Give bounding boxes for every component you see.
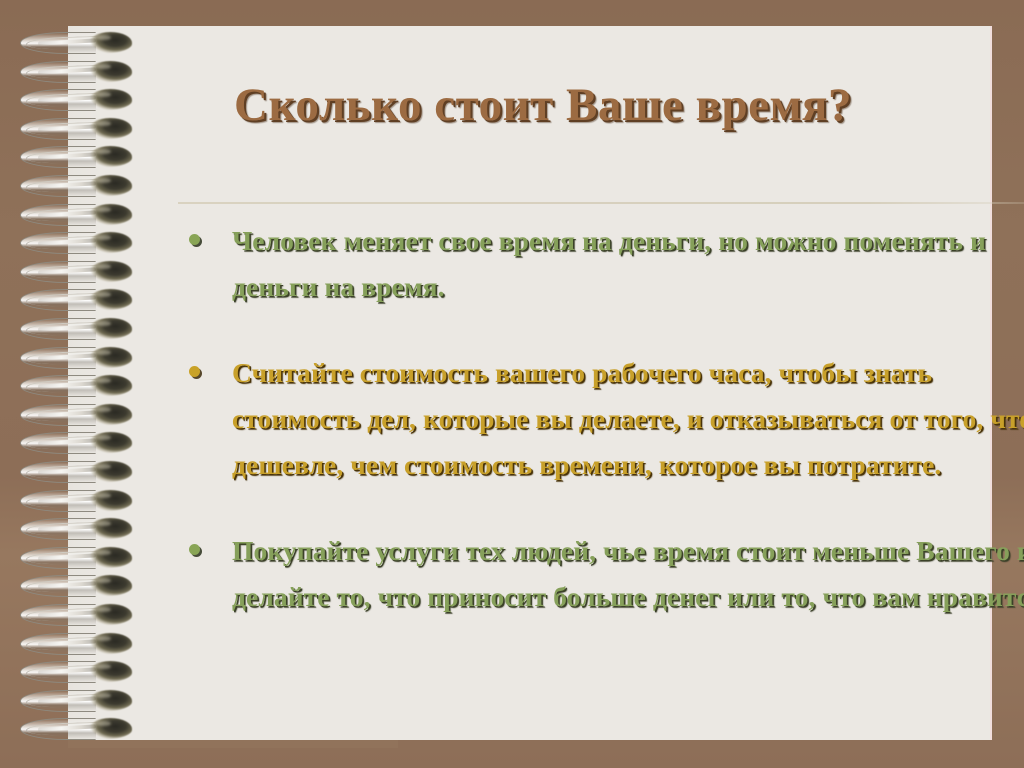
list-item-text: Покупайте услуги тех людей, чье время ст… bbox=[232, 535, 1024, 612]
slide-canvas: Человек меняет свое время на деньги, но … bbox=[0, 0, 1024, 768]
title-divider bbox=[178, 202, 1024, 204]
list-item-text: Считайте стоимость вашего рабочего часа,… bbox=[232, 357, 1024, 480]
list-item-text: Человек меняет свое время на деньги, но … bbox=[232, 225, 986, 302]
list-item: Человек меняет свое время на деньги, но … bbox=[178, 218, 1024, 310]
list-item: Покупайте услуги тех людей, чье время ст… bbox=[178, 528, 1024, 620]
list-item: Считайте стоимость вашего рабочего часа,… bbox=[178, 350, 1024, 488]
bullet-dot-icon bbox=[189, 234, 200, 245]
page-title: Сколько стоит Ваше время? bbox=[140, 76, 946, 134]
bullet-list: Человек меняет свое время на деньги, но … bbox=[178, 218, 1024, 654]
bullet-dot-icon bbox=[189, 366, 200, 377]
bullet-dot-icon bbox=[189, 544, 200, 555]
page-gutter bbox=[68, 26, 102, 740]
